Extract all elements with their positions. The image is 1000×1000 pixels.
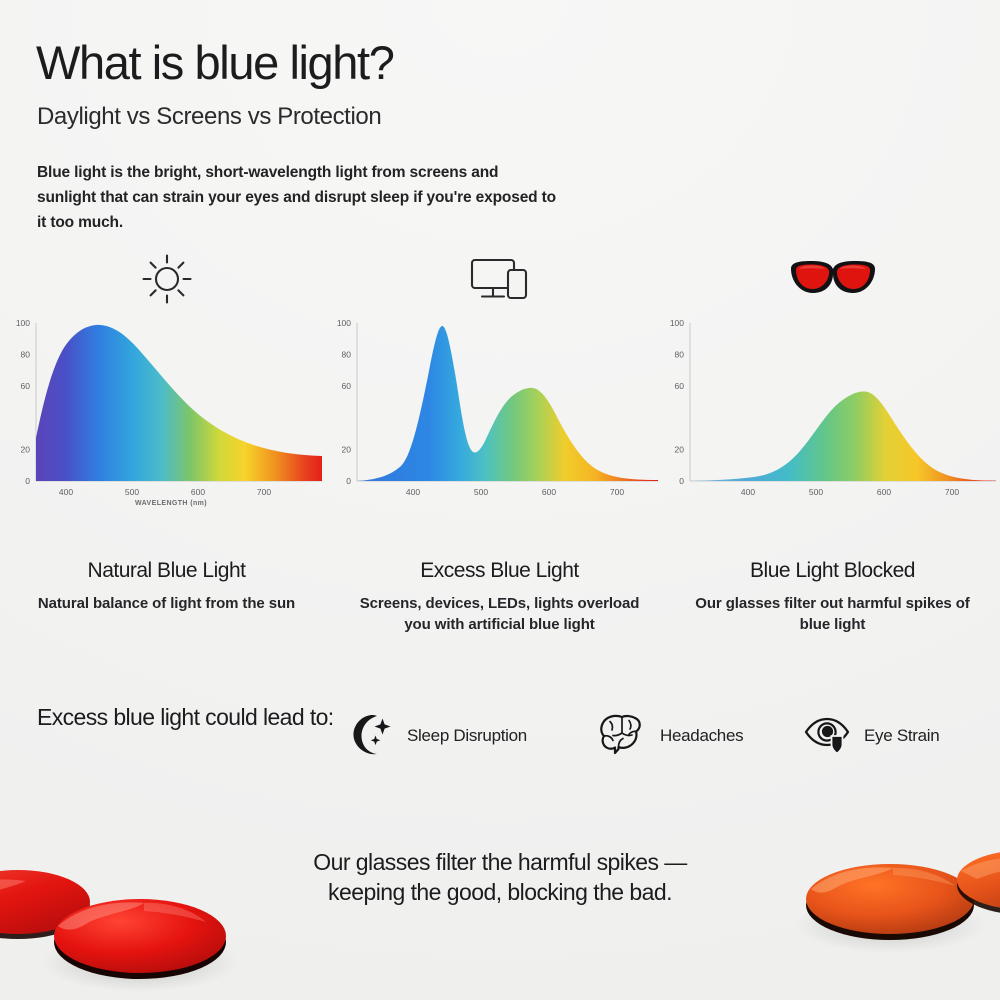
panel-natural-blue-light: 100 80 60 20 0 400 500 600 700: [0, 243, 333, 663]
tagline-line-1: Our glasses filter the harmful spikes —: [0, 848, 1000, 878]
svg-text:700: 700: [945, 487, 959, 497]
symptom-sleep-disruption: Sleep Disruption: [348, 711, 527, 761]
svg-text:20: 20: [21, 444, 31, 454]
svg-text:600: 600: [877, 487, 891, 497]
intro-paragraph: Blue light is the bright, short-waveleng…: [37, 160, 557, 235]
symptoms-section: Excess blue light could lead to: Sleep D…: [0, 695, 1000, 785]
svg-text:500: 500: [474, 487, 488, 497]
svg-text:600: 600: [542, 487, 556, 497]
svg-text:0: 0: [346, 476, 351, 486]
panel-description: Screens, devices, LEDs, lights overload …: [351, 593, 648, 636]
svg-text:20: 20: [675, 444, 685, 454]
svg-text:60: 60: [21, 381, 31, 391]
symptom-headaches: Headaches: [597, 711, 743, 761]
svg-text:700: 700: [610, 487, 624, 497]
panel-description: Natural balance of light from the sun: [18, 593, 315, 614]
spectrum-panels: 100 80 60 20 0 400 500 600 700: [0, 243, 1000, 663]
chart-blue-light-blocked: 100 80 60 20 0 400 500 600 700: [666, 311, 999, 511]
panel-heading: Blue Light Blocked: [666, 559, 999, 583]
tagline: Our glasses filter the harmful spikes — …: [0, 848, 1000, 908]
svg-text:60: 60: [675, 381, 685, 391]
svg-text:80: 80: [21, 350, 31, 360]
symptom-eye-strain: Eye Strain: [803, 711, 939, 761]
chart-natural-blue-light: 100 80 60 20 0 400 500 600 700: [0, 311, 333, 511]
panel-blue-light-blocked: 100 80 60 20 0 400 500 600 700: [666, 243, 999, 663]
sun-icon: [0, 251, 333, 307]
chart-excess-blue-light: 100 80 60 20 0 400 500 600 700: [333, 311, 666, 511]
symptom-label: Eye Strain: [864, 726, 939, 746]
tagline-line-2: keeping the good, blocking the bad.: [0, 878, 1000, 908]
crescent-moon-sparkles-icon: [348, 713, 394, 760]
panel-heading: Natural Blue Light: [0, 559, 333, 583]
panel-description: Our glasses filter out harmful spikes of…: [684, 593, 981, 636]
x-axis-caption: WAVELENGTH (nm): [135, 500, 207, 507]
panel-excess-blue-light: 100 80 60 20 0 400 500 600 700: [333, 243, 666, 663]
svg-text:0: 0: [25, 476, 30, 486]
svg-text:80: 80: [675, 350, 685, 360]
svg-text:700: 700: [257, 487, 271, 497]
svg-text:500: 500: [125, 487, 139, 497]
symptom-label: Headaches: [660, 726, 743, 746]
svg-text:400: 400: [406, 487, 420, 497]
symptom-label: Sleep Disruption: [407, 726, 527, 746]
brain-icon: [597, 713, 647, 760]
svg-text:100: 100: [670, 318, 684, 328]
page-title: What is blue light?: [36, 38, 393, 87]
red-sunglasses-icon: [666, 251, 999, 307]
svg-text:60: 60: [342, 381, 352, 391]
panel-heading: Excess Blue Light: [333, 559, 666, 583]
svg-text:600: 600: [191, 487, 205, 497]
svg-text:0: 0: [679, 476, 684, 486]
infographic-page: What is blue light? Daylight vs Screens …: [0, 0, 1000, 1000]
svg-text:20: 20: [342, 444, 352, 454]
monitor-and-phone-icon: [333, 251, 666, 307]
svg-text:400: 400: [59, 487, 73, 497]
symptoms-lead-text: Excess blue light could lead to:: [37, 703, 337, 732]
eye-shield-icon: [803, 714, 851, 759]
svg-text:80: 80: [342, 350, 352, 360]
svg-text:500: 500: [809, 487, 823, 497]
page-subtitle: Daylight vs Screens vs Protection: [37, 103, 381, 131]
svg-text:100: 100: [16, 318, 30, 328]
svg-text:100: 100: [337, 318, 351, 328]
svg-text:400: 400: [741, 487, 755, 497]
